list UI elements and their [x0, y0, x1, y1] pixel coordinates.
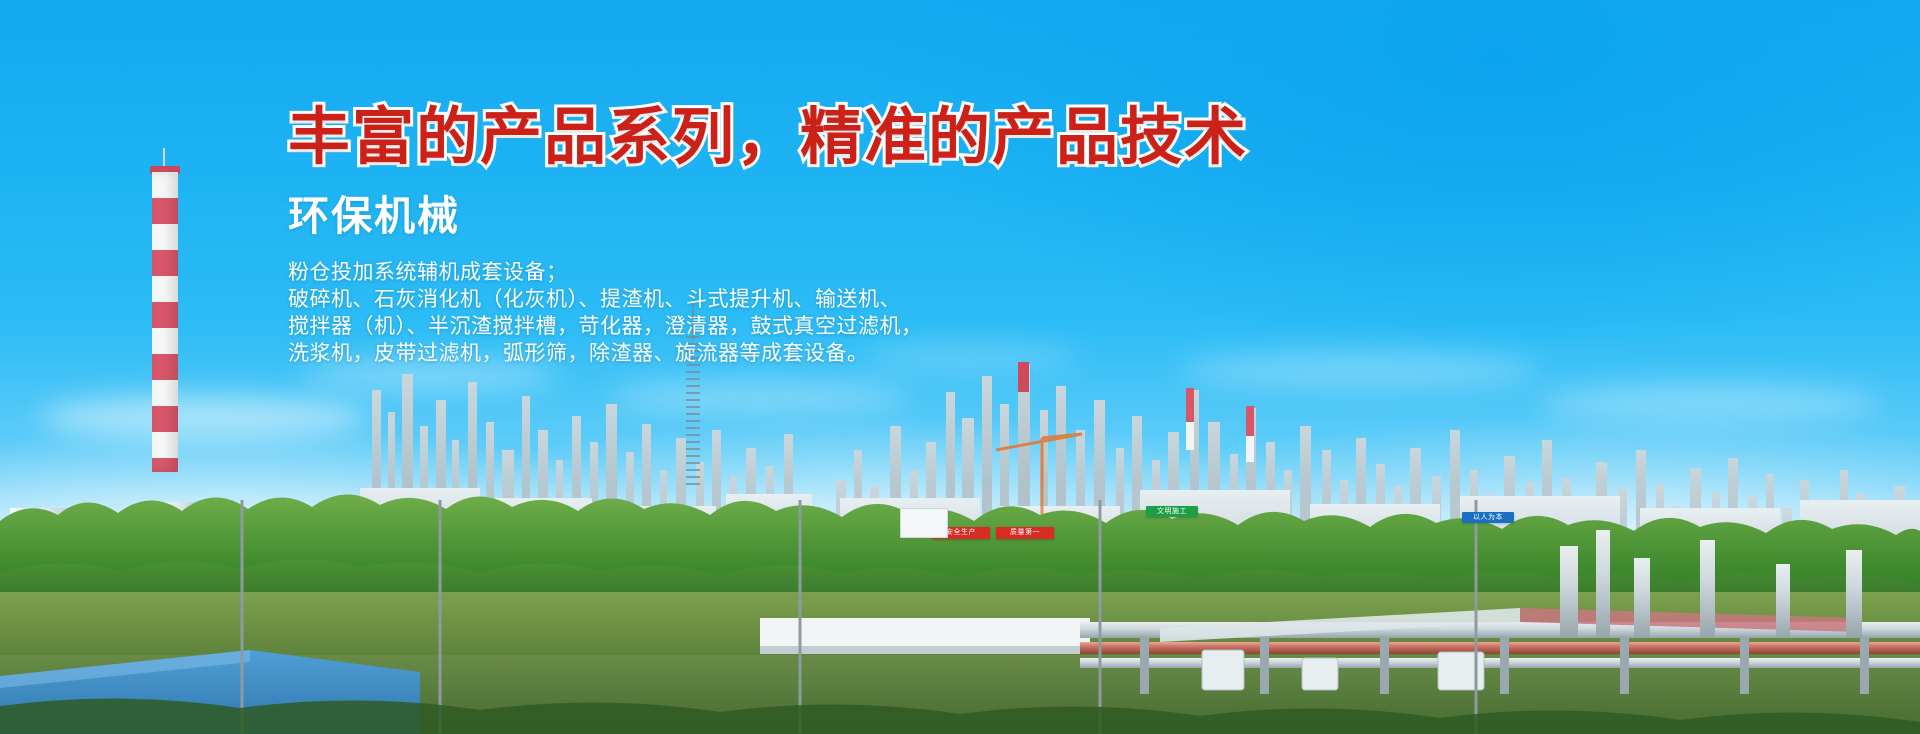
hero-banner: 安全生产 质量第一 文明施工 以人为本 丰富的产品系列，精准的产品技术 环保机械…	[0, 0, 1920, 734]
description-line: 洗浆机，皮带过滤机，弧形筛，除渣器、旋流器等成套设备。	[288, 340, 1468, 367]
page-title: 丰富的产品系列，精准的产品技术	[288, 104, 1468, 172]
description-line: 破碎机、石灰消化机（化灰机）、提渣机、斗式提升机、输送机、	[288, 286, 1468, 313]
site-sign-quality: 质量第一	[996, 527, 1054, 539]
banner-copy: 丰富的产品系列，精准的产品技术 环保机械 粉仓投加系统辅机成套设备； 破碎机、石…	[288, 104, 1468, 367]
chimney-mast	[163, 148, 165, 168]
description-line: 搅拌器（机）、半沉渣搅拌槽，苛化器，澄清器，鼓式真空过滤机，	[288, 313, 1468, 340]
description-line: 粉仓投加系统辅机成套设备；	[288, 259, 1468, 286]
banner-subheading: 环保机械	[288, 194, 1468, 239]
site-sign-people: 以人为本	[1462, 512, 1514, 523]
site-sign-civilized: 文明施工	[1146, 506, 1198, 517]
gantry-signboard	[900, 508, 948, 538]
banner-description: 粉仓投加系统辅机成套设备； 破碎机、石灰消化机（化灰机）、提渣机、斗式提升机、输…	[288, 259, 1468, 367]
striped-smokestack	[152, 172, 178, 472]
